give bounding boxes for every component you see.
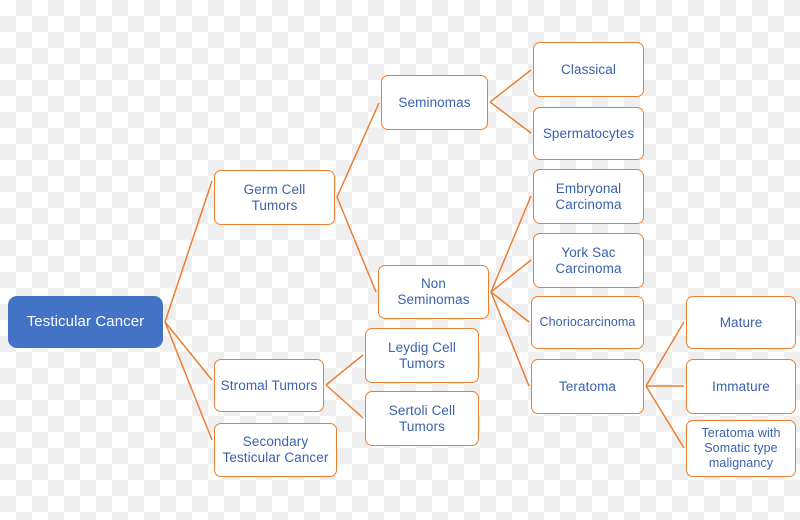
node-label: Testicular Cancer — [27, 313, 145, 331]
diagram-canvas: Testicular CancerGerm Cell TumorsStromal… — [0, 0, 800, 520]
node-label: Mature — [720, 315, 763, 331]
node-label: Seminomas — [398, 95, 470, 111]
node-secondary[interactable]: SecondaryTesticular Cancer — [214, 423, 337, 477]
edge-root-to-stromal — [165, 322, 212, 380]
node-leydig[interactable]: Leydig CellTumors — [365, 328, 479, 383]
node-label: Teratoma — [559, 379, 616, 395]
edge-root-to-secondary — [165, 322, 212, 440]
node-root[interactable]: Testicular Cancer — [8, 296, 163, 348]
node-label: Immature — [712, 379, 770, 395]
node-chorio[interactable]: Choriocarcinoma — [531, 296, 644, 349]
node-label: Choriocarcinoma — [540, 315, 636, 330]
node-teratoma[interactable]: Teratoma — [531, 359, 644, 414]
node-stromal[interactable]: Stromal Tumors — [214, 359, 324, 412]
edge-teratoma-to-teratoma_som — [646, 386, 684, 448]
edge-nonsem-to-embryonal — [491, 196, 531, 292]
node-classical[interactable]: Classical — [533, 42, 644, 97]
edge-stromal-to-leydig — [326, 355, 363, 385]
edge-nonsem-to-teratoma — [491, 292, 529, 386]
edge-root-to-germ — [165, 181, 212, 322]
node-label: York SacCarcinoma — [555, 245, 621, 277]
edge-stromal-to-sertoli — [326, 385, 363, 418]
edge-teratoma-to-mature — [646, 322, 684, 386]
node-teratoma_som[interactable]: Teratoma withSomatic typemalignancy — [686, 420, 796, 477]
edge-germ-to-seminomas — [337, 103, 379, 197]
node-nonsem[interactable]: Non Seminomas — [378, 265, 489, 319]
node-label: Stromal Tumors — [221, 378, 318, 394]
node-label: Non Seminomas — [383, 276, 484, 308]
node-label: Teratoma withSomatic typemalignancy — [701, 426, 780, 470]
edge-seminomas-to-classical — [490, 70, 531, 102]
node-label: Sertoli CellTumors — [389, 403, 455, 435]
node-label: Classical — [561, 62, 616, 78]
node-label: Leydig CellTumors — [388, 340, 456, 372]
node-germ[interactable]: Germ Cell Tumors — [214, 170, 335, 225]
node-label: Spermatocytes — [543, 126, 634, 142]
node-label: SecondaryTesticular Cancer — [223, 434, 329, 466]
edge-nonsem-to-chorio — [491, 292, 529, 322]
node-sertoli[interactable]: Sertoli CellTumors — [365, 391, 479, 446]
node-yorksac[interactable]: York SacCarcinoma — [533, 233, 644, 288]
node-mature[interactable]: Mature — [686, 296, 796, 349]
edge-seminomas-to-spermato — [490, 102, 531, 133]
node-spermato[interactable]: Spermatocytes — [533, 107, 644, 160]
edge-nonsem-to-yorksac — [491, 260, 531, 292]
node-seminomas[interactable]: Seminomas — [381, 75, 488, 130]
edge-germ-to-nonsem — [337, 197, 376, 292]
node-embryonal[interactable]: EmbryonalCarcinoma — [533, 169, 644, 224]
node-immature[interactable]: Immature — [686, 359, 796, 414]
node-label: EmbryonalCarcinoma — [555, 181, 621, 213]
node-label: Germ Cell Tumors — [219, 182, 330, 214]
